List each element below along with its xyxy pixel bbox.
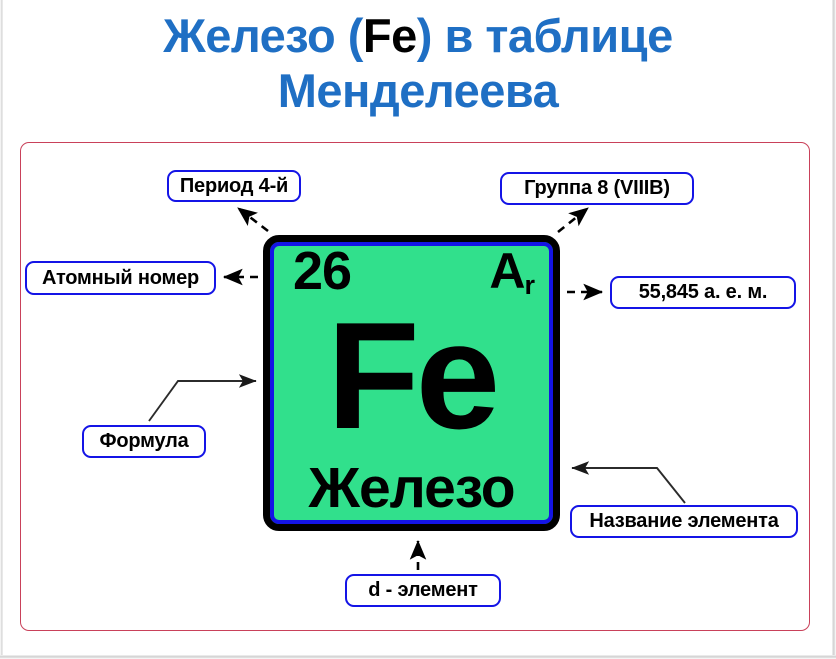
title-text-after: ) в таблице: [417, 9, 673, 62]
callout-element-name: Название элемента: [570, 505, 798, 538]
element-symbol: Fe: [270, 300, 553, 452]
slide-right-edge: [832, 0, 836, 659]
callout-atomic-mass: 55,845 а. е. м.: [610, 276, 796, 309]
element-name: Железо: [270, 458, 553, 520]
slide-bottom-edge: [0, 655, 836, 659]
title-element-symbol: Fe: [363, 9, 417, 62]
callout-period: Период 4-й: [167, 170, 301, 202]
ar-subscript: r: [524, 270, 535, 300]
slide-left-edge: [0, 0, 3, 659]
slide-page: Железо (Fe) в таблице Менделеева 26 Ar F…: [0, 0, 836, 659]
atomic-number-value: 26: [293, 244, 351, 298]
element-card-fe: 26 Ar Fe Железо: [263, 235, 560, 531]
callout-formula: Формула: [82, 425, 206, 458]
callout-group: Группа 8 (VIIIB): [500, 172, 694, 205]
page-title: Железо (Fe) в таблице Менделеева: [40, 8, 796, 119]
title-text-before: Железо (: [163, 9, 363, 62]
title-line-two: Менделеева: [278, 64, 559, 117]
element-card-inner: 26 Ar Fe Железо: [270, 242, 553, 524]
relative-atomic-mass-symbol: Ar: [489, 246, 536, 296]
callout-d-element: d - элемент: [345, 574, 501, 607]
callout-atomic-number: Атомный номер: [25, 261, 216, 295]
